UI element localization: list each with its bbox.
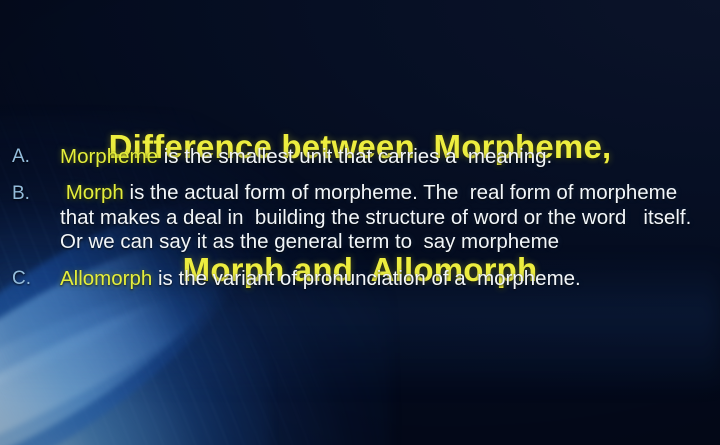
slide-content: Difference between Morpheme, Morph and A… [0, 0, 720, 445]
list-marker-a: A. [8, 144, 60, 170]
list-text-c: Allomorph is the variant of pronunciatio… [60, 266, 706, 292]
list-text-a: Morpheme is the smallest unit that carri… [60, 144, 706, 170]
keyword-allomorph-highlight: Allomorph [60, 267, 152, 290]
list-text-c-rest: is the variant of pronunciation of a mor… [152, 267, 580, 290]
list-item-a: A. Morpheme is the smallest unit that ca… [8, 144, 706, 170]
list-text-b-rest: is the actual form of morpheme. The real… [60, 181, 697, 253]
list-item-b: B. Morph is the actual form of morpheme.… [8, 181, 706, 255]
presentation-slide: Difference between Morpheme, Morph and A… [0, 0, 720, 445]
list-item-c: C. Allomorph is the variant of pronuncia… [8, 266, 706, 292]
keyword-morph-highlight: Morph [66, 181, 124, 204]
definition-list: A. Morpheme is the smallest unit that ca… [8, 144, 706, 303]
keyword-morpheme-highlight: Morpheme [60, 145, 158, 168]
list-marker-b: B. [8, 181, 60, 207]
list-marker-c: C. [8, 266, 60, 292]
list-text-a-rest: is the smallest unit that carries a mean… [158, 145, 552, 168]
list-text-b: Morph is the actual form of morpheme. Th… [60, 181, 706, 255]
